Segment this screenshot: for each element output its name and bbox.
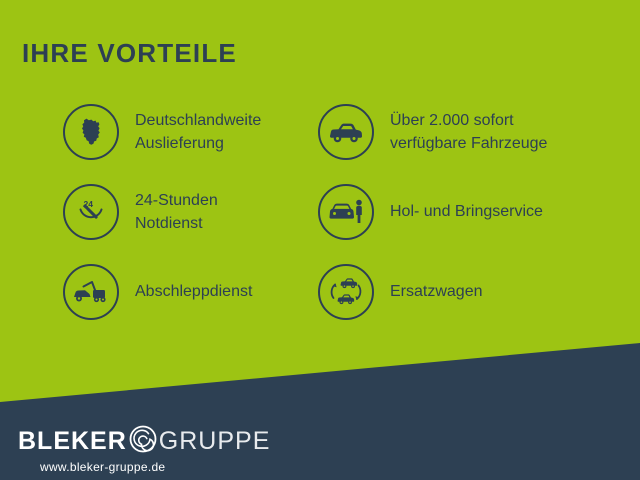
car-with-person-icon: [318, 184, 374, 240]
brand-logo[interactable]: BLEKER GRUPPE www.bleker-gruppe.de: [18, 425, 270, 474]
benefits-right-column: Über 2.000 sofort verfügbare Fahrzeuge H…: [318, 92, 618, 332]
benefit-item[interactable]: Abschleppdienst: [63, 252, 313, 332]
logo-url[interactable]: www.bleker-gruppe.de: [40, 460, 270, 474]
benefit-item[interactable]: 24 24-Stunden Notdienst: [63, 172, 313, 252]
benefits-left-column: Deutschlandweite Auslieferung 24 24-Stun…: [63, 92, 313, 332]
benefit-label: Deutschlandweite Auslieferung: [135, 109, 261, 155]
slide-root: IHRE VORTEILE Deutschlandweite Ausliefer…: [0, 0, 640, 480]
car-icon: [318, 104, 374, 160]
spiral-circle-logo-icon: [128, 424, 158, 459]
benefit-item[interactable]: Hol- und Bringservice: [318, 172, 618, 252]
benefit-label: Ersatzwagen: [390, 280, 483, 303]
benefit-label: Über 2.000 sofort verfügbare Fahrzeuge: [390, 109, 547, 155]
24-hour-wrench-icon: 24: [63, 184, 119, 240]
benefit-item[interactable]: Über 2.000 sofort verfügbare Fahrzeuge: [318, 92, 618, 172]
logo-name-bold: BLEKER: [18, 427, 127, 456]
benefit-item[interactable]: Deutschlandweite Auslieferung: [63, 92, 313, 172]
benefit-label: Abschleppdienst: [135, 280, 252, 303]
benefit-item[interactable]: Ersatzwagen: [318, 252, 618, 332]
tow-truck-icon: [63, 264, 119, 320]
benefit-label: Hol- und Bringservice: [390, 200, 543, 223]
benefit-label: 24-Stunden Notdienst: [135, 189, 218, 235]
two-cars-exchange-icon: [318, 264, 374, 320]
germany-map-icon: [63, 104, 119, 160]
logo-name-light: GRUPPE: [159, 427, 271, 456]
page-title: IHRE VORTEILE: [22, 38, 237, 69]
logo-wordmark-row: BLEKER GRUPPE: [18, 425, 270, 457]
